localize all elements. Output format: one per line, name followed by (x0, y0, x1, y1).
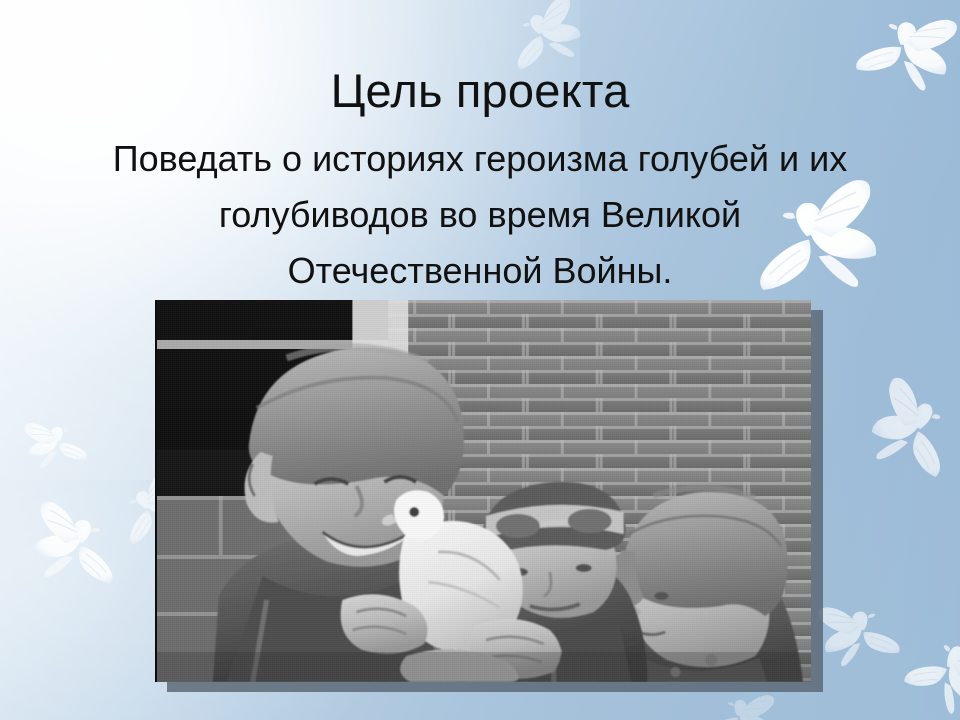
body-line-1: Поведать о историях героизма голубей и и… (60, 131, 900, 187)
body-line-3: Отечественной Войны. (60, 243, 900, 299)
photo-illustration (157, 300, 811, 682)
presentation-slide: Цель проекта Поведать о историях героизм… (0, 0, 960, 720)
page-title: Цель проекта (0, 62, 960, 120)
photo-frame (155, 300, 811, 682)
body-line-2: голубиводов во время Великой (60, 187, 900, 243)
slide-body-text: Поведать о историях героизма голубей и и… (60, 131, 900, 299)
historic-photo (155, 300, 811, 682)
